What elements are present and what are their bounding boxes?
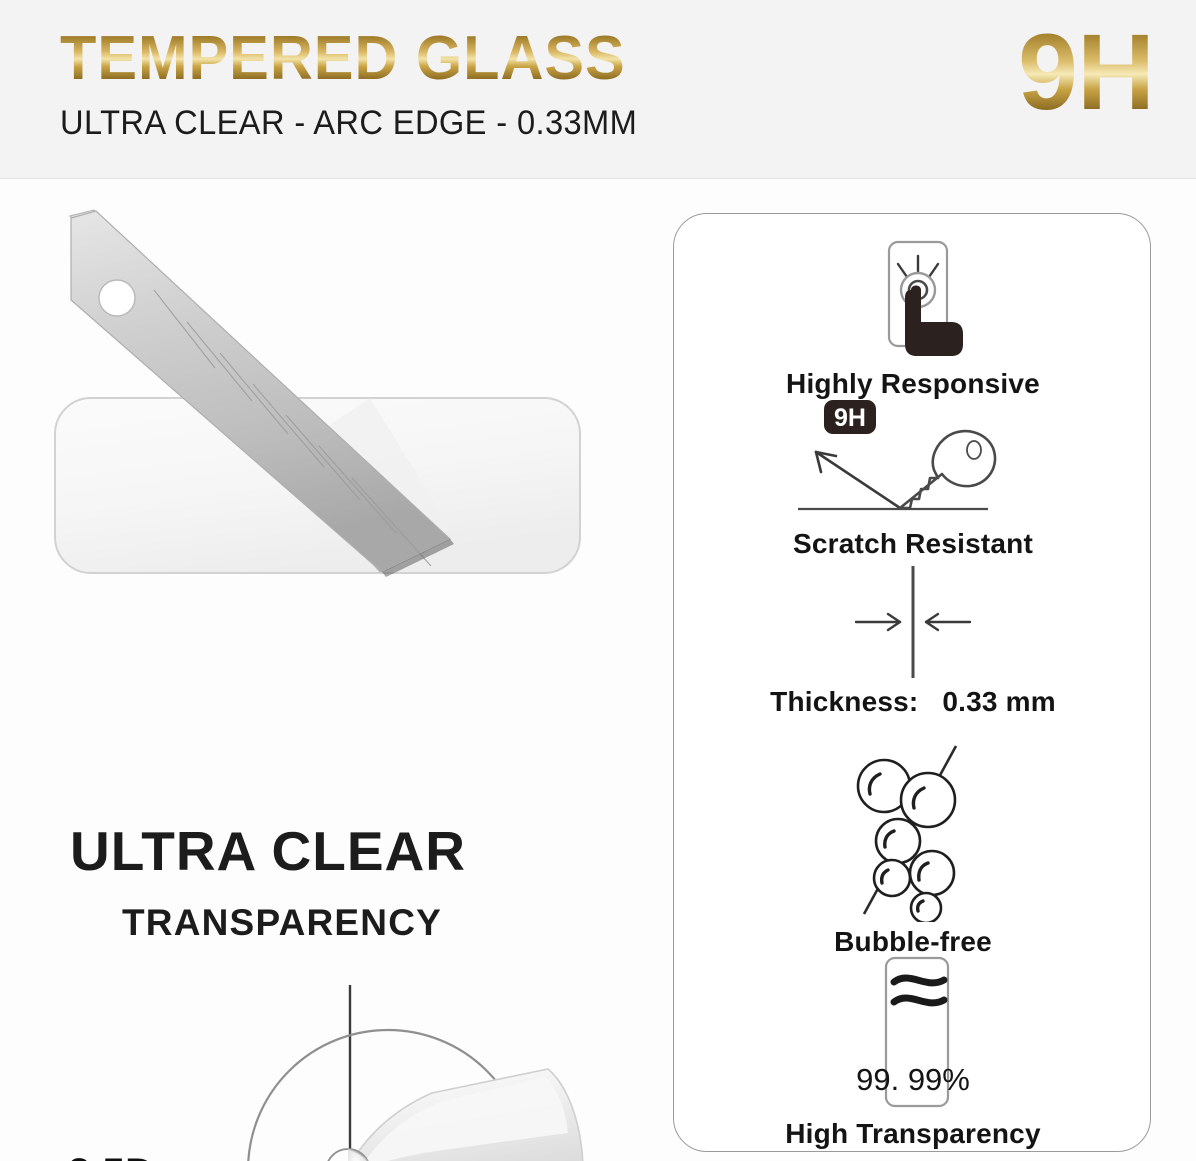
- transparency-icon-wrap: 99. 99%: [674, 954, 1152, 1114]
- feature-label: High Transparency: [674, 1120, 1152, 1148]
- arc-edge-cross-section: [326, 1069, 583, 1161]
- feature-label: Highly Responsive: [674, 370, 1152, 398]
- arc-label-dimension: 2.5D: [68, 1153, 155, 1161]
- svg-text:9H: 9H: [834, 404, 866, 432]
- page-title: TEMPERED GLASS: [60, 28, 637, 90]
- feature-bubble-free: Bubble-free: [674, 742, 1152, 956]
- touch-phone-icon: [847, 232, 979, 364]
- key-scratch-icon: 9H: [788, 396, 1038, 524]
- badge-9h-icon: 9H: [824, 400, 876, 434]
- feature-label: Bubble-free: [674, 928, 1152, 956]
- blade-on-glass-figure: [40, 198, 620, 598]
- transparency-subheading: TRANSPARENCY: [122, 904, 442, 941]
- title-block: TEMPERED GLASS ULTRA CLEAR - ARC EDGE - …: [60, 28, 661, 143]
- feature-label: Thickness: 0.33 mm: [674, 688, 1152, 716]
- infographic-page: TEMPERED GLASS ULTRA CLEAR - ARC EDGE - …: [0, 0, 1196, 1161]
- bubbles-icon: [828, 742, 998, 922]
- feature-scratch-resistant: 9H Scratch Resistant: [674, 396, 1152, 558]
- arc-edge-svg: [30, 973, 630, 1161]
- transparency-percentage: 99. 99%: [674, 1062, 1152, 1098]
- feature-label: Scratch Resistant: [674, 530, 1152, 558]
- hardness-badge-9h: 9H: [1018, 18, 1154, 126]
- feature-highly-responsive: Highly Responsive: [674, 232, 1152, 398]
- blade-glass-svg: [40, 198, 620, 598]
- feature-thickness: Thickness: 0.33 mm: [674, 562, 1152, 716]
- feature-high-transparency: 99. 99% High Transparency: [674, 954, 1152, 1148]
- header-banner: TEMPERED GLASS ULTRA CLEAR - ARC EDGE - …: [0, 0, 1196, 179]
- key-shape: [900, 431, 995, 508]
- thickness-arrows-icon: [838, 562, 988, 682]
- ultra-clear-heading: ULTRA CLEAR: [70, 824, 466, 879]
- features-panel: Highly Responsive 9H: [673, 213, 1151, 1152]
- arc-edge-figure: [30, 973, 630, 1161]
- left-column: ULTRA CLEAR TRANSPARENCY: [0, 178, 660, 1161]
- page-subtitle: ULTRA CLEAR - ARC EDGE - 0.33MM: [60, 104, 637, 143]
